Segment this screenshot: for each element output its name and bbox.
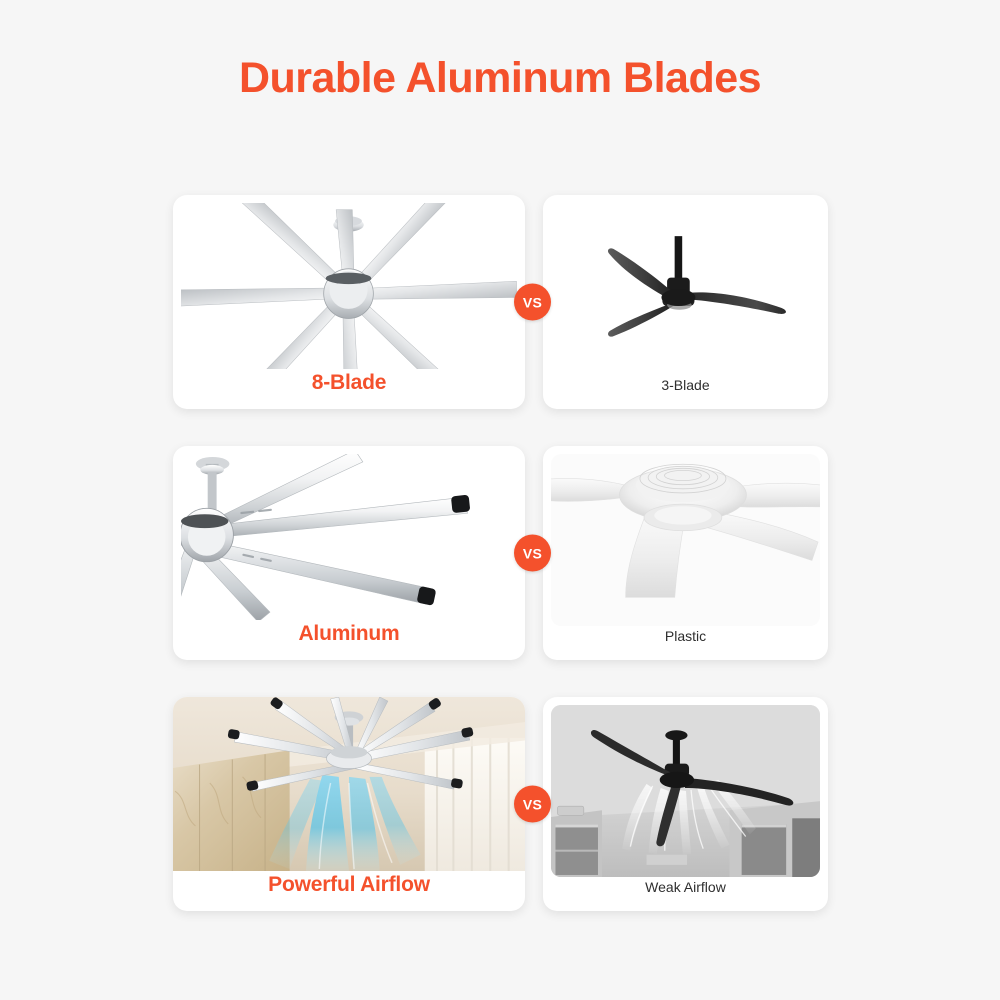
powerful-airflow-scene-icon (173, 697, 525, 871)
media-silver-eight-blade-ceiling-fan (181, 203, 517, 369)
label-aluminum: Aluminum (298, 622, 399, 645)
card-negative-weak-airflow[interactable]: Weak Airflow (543, 697, 828, 911)
media-black-three-blade-ceiling-fan (551, 203, 820, 375)
weak-airflow-scene-icon (551, 705, 820, 877)
comparison-row-airflow: Powerful Airflow VS (173, 697, 828, 911)
media-room-with-strong-blue-airflow (173, 697, 525, 871)
comparison-row-material: Aluminum VS (173, 446, 828, 660)
label-weak-airflow: Weak Airflow (645, 879, 726, 895)
infographic-page: Durable Aluminum Blades (0, 0, 1000, 1000)
card-negative-plastic[interactable]: Plastic (543, 446, 828, 660)
card-label-wrap: Powerful Airflow (173, 871, 525, 911)
eight-blade-fan-icon (181, 203, 517, 369)
card-label-wrap: 3-Blade (543, 375, 828, 409)
vs-badge-material: VS (514, 535, 551, 572)
card-label-wrap: Aluminum (173, 620, 525, 660)
card-label-wrap: Plastic (543, 626, 828, 660)
comparison-list: 8-Blade VS (173, 195, 828, 911)
card-positive-aluminum[interactable]: Aluminum (173, 446, 525, 660)
plastic-fan-icon (551, 454, 820, 626)
media-aluminum-blade-closeup (181, 454, 517, 620)
aluminum-blade-closeup-icon (181, 454, 517, 620)
label-8-blade: 8-Blade (312, 371, 386, 394)
vs-badge-airflow: VS (514, 786, 551, 823)
media-grayscale-room-with-weak-airflow (551, 705, 820, 877)
card-label-wrap: Weak Airflow (543, 877, 828, 911)
comparison-row-blade-count: 8-Blade VS (173, 195, 828, 409)
label-powerful-airflow: Powerful Airflow (268, 873, 430, 896)
card-positive-powerful-airflow[interactable]: Powerful Airflow (173, 697, 525, 911)
card-positive-8-blade[interactable]: 8-Blade (173, 195, 525, 409)
page-title: Durable Aluminum Blades (0, 54, 1000, 103)
vs-badge-blade-count: VS (514, 284, 551, 321)
label-3-blade: 3-Blade (661, 377, 709, 393)
card-label-wrap: 8-Blade (173, 369, 525, 409)
media-white-plastic-blade-fan (551, 454, 820, 626)
label-plastic: Plastic (665, 628, 706, 644)
three-blade-fan-icon (551, 203, 820, 375)
card-negative-3-blade[interactable]: 3-Blade (543, 195, 828, 409)
